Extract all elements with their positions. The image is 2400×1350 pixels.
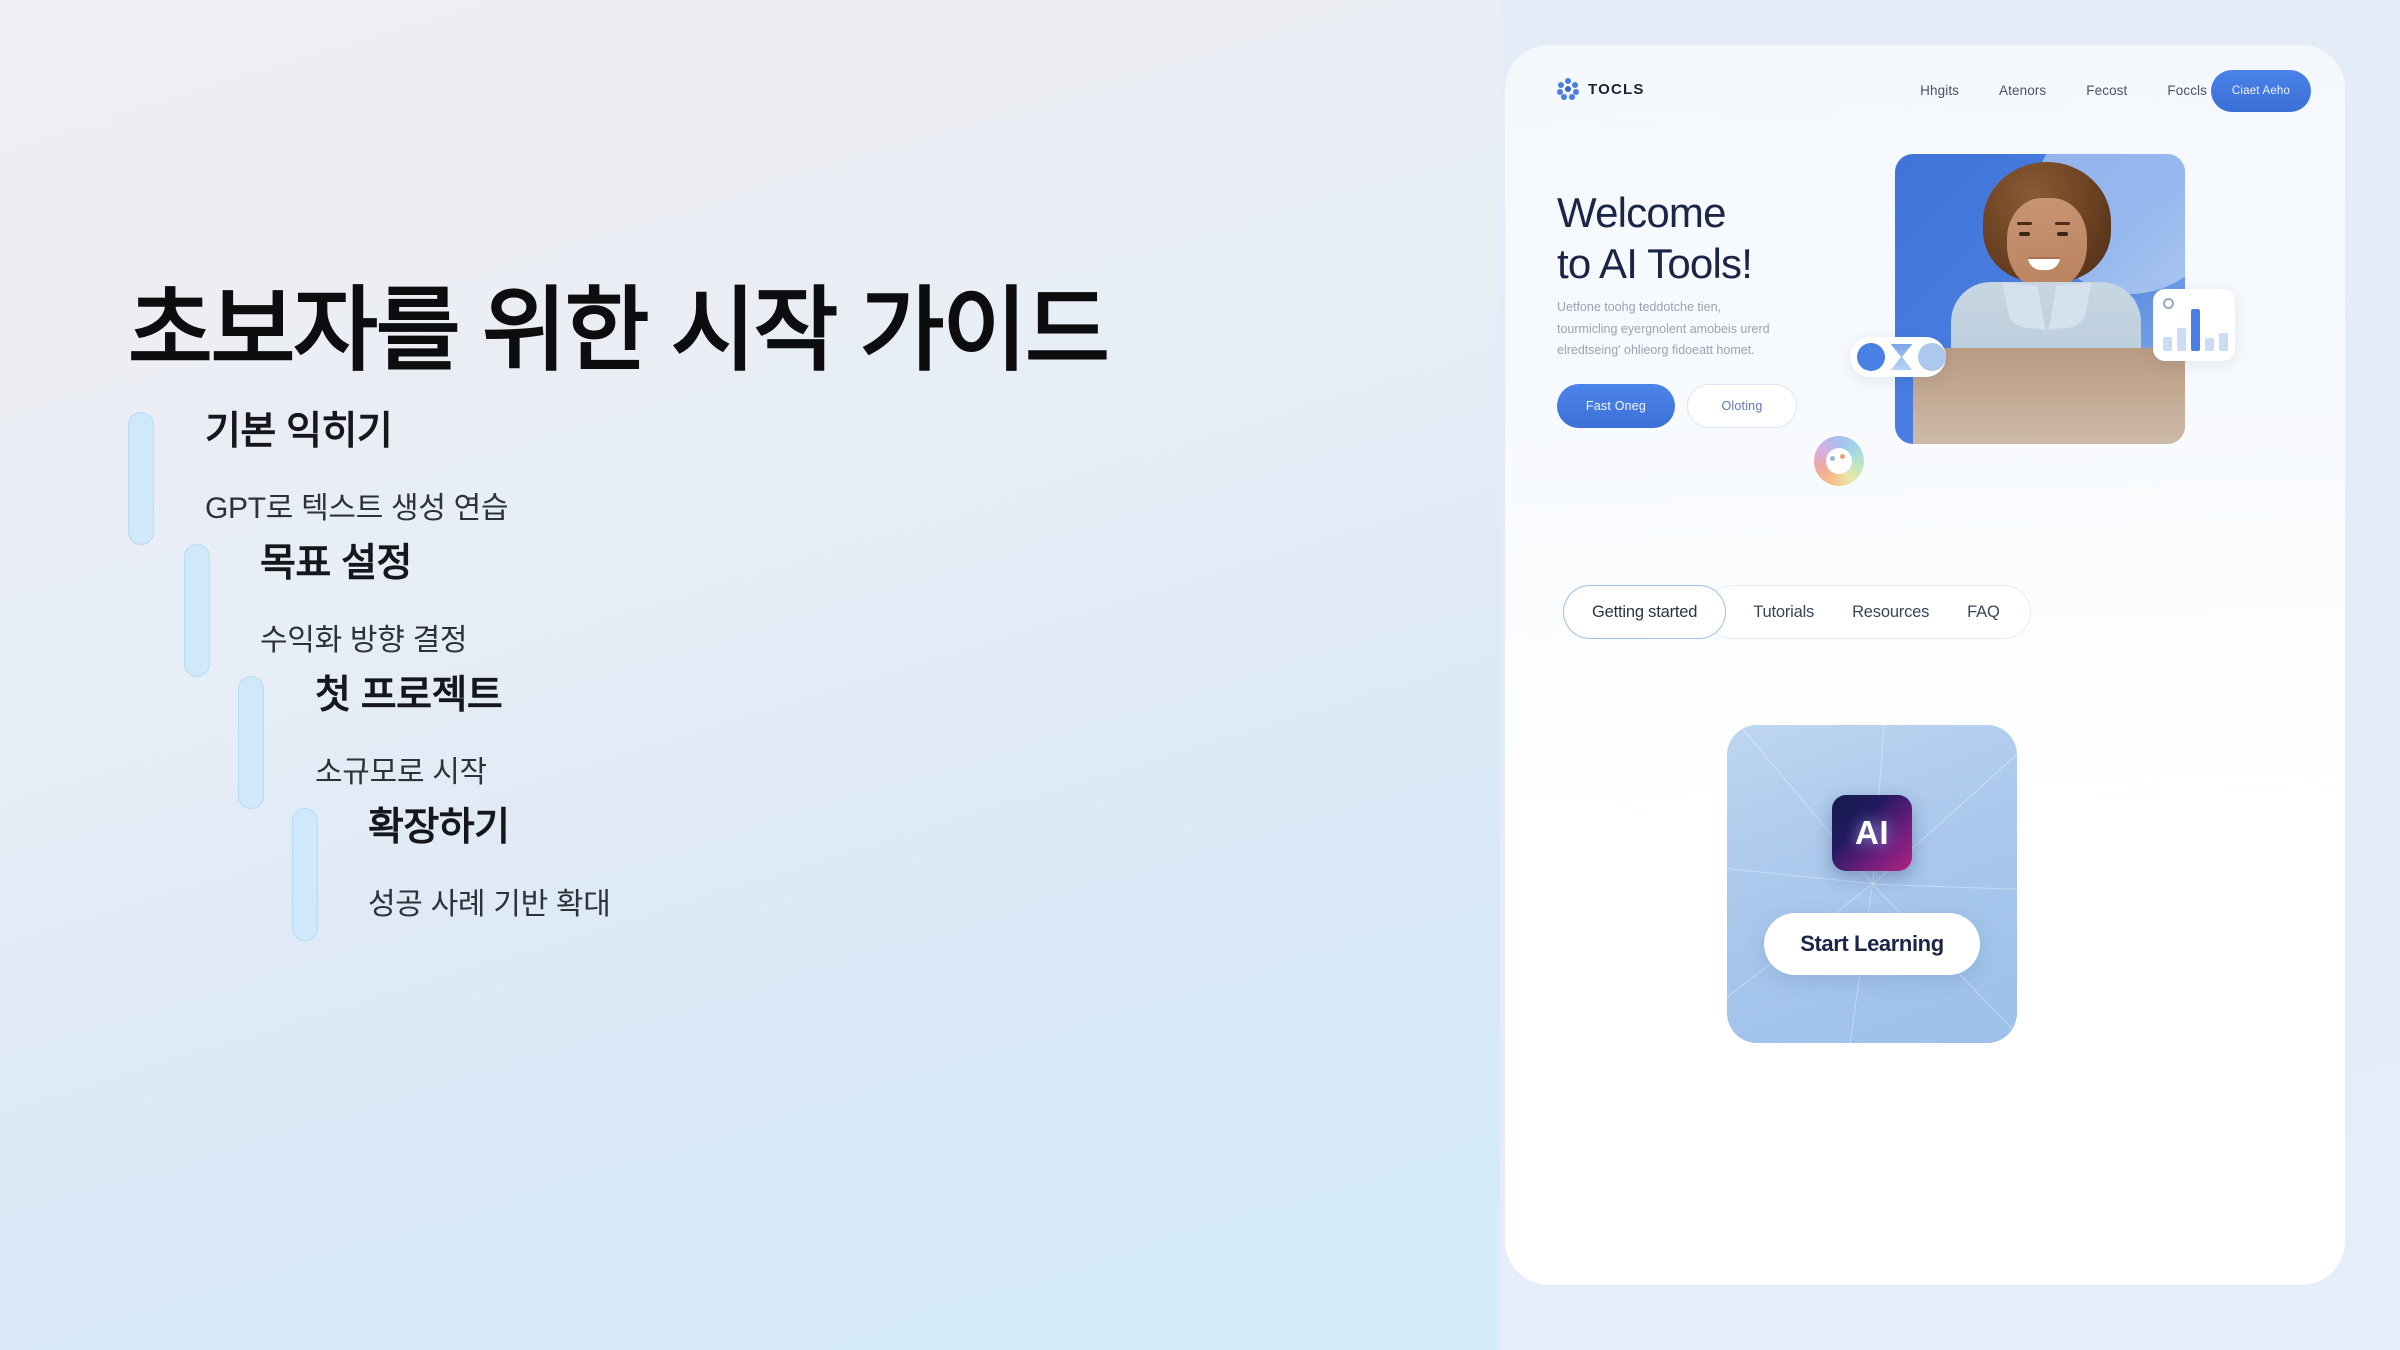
floating-toggle-badge xyxy=(1850,337,1946,377)
hero-photo xyxy=(1895,154,2185,444)
ray-decoration xyxy=(1727,725,2017,1043)
floating-chart-card xyxy=(2153,289,2235,361)
step-description: 성공 사례 기반 확대 xyxy=(368,879,611,923)
nav-cta-button[interactable]: Ciaet Aeho xyxy=(2211,70,2311,112)
nav-link[interactable]: Fecost xyxy=(2086,83,2127,98)
hero-heading-line2: to AI Tools! xyxy=(1557,238,1752,289)
person-eye xyxy=(2019,232,2030,236)
tab-getting-started[interactable]: Getting started xyxy=(1563,585,1726,639)
site-navbar: TOCLS Hhgits Atenors Fecost Foccls Ciaet… xyxy=(1505,45,2345,141)
step-item: 기본 익히기 GPT로 텍스트 생성 연습 xyxy=(0,400,1500,532)
person-eye xyxy=(2057,232,2068,236)
step-item: 목표 설정 수익화 방향 결정 xyxy=(0,532,1500,664)
step-accent-bar xyxy=(184,544,210,677)
nav-link[interactable]: Atenors xyxy=(1999,83,2046,98)
hero-heading-line1: Welcome xyxy=(1557,187,1752,238)
step-item: 확장하기 성공 사례 기반 확대 xyxy=(0,796,1500,928)
outline-circle-icon xyxy=(1918,343,1946,371)
bar-chart-icon xyxy=(2163,309,2228,351)
hourglass-icon xyxy=(1891,344,1913,370)
step-title: 목표 설정 xyxy=(260,532,412,588)
step-title: 첫 프로젝트 xyxy=(315,664,502,720)
step-accent-bar xyxy=(128,412,154,545)
step-accent-bar xyxy=(238,676,264,809)
circle-outline-icon xyxy=(2163,298,2174,309)
nav-link[interactable]: Hhgits xyxy=(1920,83,1959,98)
person-eyebrow xyxy=(2055,222,2070,225)
tab-group: Tutorials Resources FAQ xyxy=(1706,585,2030,639)
hero-primary-button[interactable]: Fast Oneg xyxy=(1557,384,1675,428)
right-preview-pane: TOCLS Hhgits Atenors Fecost Foccls Ciaet… xyxy=(1500,0,2400,1350)
step-title: 확장하기 xyxy=(368,796,510,852)
nav-links: Hhgits Atenors Fecost Foccls xyxy=(1920,83,2207,98)
step-description: 소규모로 시작 xyxy=(315,747,487,791)
hero-heading: Welcome to AI Tools! xyxy=(1557,187,1752,289)
nav-link[interactable]: Foccls xyxy=(2167,83,2207,98)
website-mockup-card: TOCLS Hhgits Atenors Fecost Foccls Ciaet… xyxy=(1505,45,2345,1285)
brand-name: TOCLS xyxy=(1588,81,1645,98)
hero-body-text: Uetfone toohg teddotche tien, tourmiclin… xyxy=(1557,297,1772,362)
start-learning-button[interactable]: Start Learning xyxy=(1764,913,1980,975)
person-face xyxy=(2007,198,2087,290)
hero-secondary-button[interactable]: Oloting xyxy=(1687,384,1797,428)
ai-badge-label: AI xyxy=(1855,814,1889,852)
tab-resources[interactable]: Resources xyxy=(1852,603,1929,622)
tab-tutorials[interactable]: Tutorials xyxy=(1753,603,1814,622)
hero-button-group: Fast Oneg Oloting xyxy=(1557,384,1797,428)
tab-faq[interactable]: FAQ xyxy=(1967,603,1999,622)
ai-learning-card: AI Start Learning xyxy=(1727,725,2017,1043)
step-title: 기본 익히기 xyxy=(205,400,392,456)
step-accent-bar xyxy=(292,808,318,941)
step-item: 첫 프로젝트 소규모로 시작 xyxy=(0,664,1500,796)
dot-cluster-icon xyxy=(1557,78,1579,100)
ai-badge-icon: AI xyxy=(1832,795,1912,871)
person-eyebrow xyxy=(2017,222,2032,225)
tab-row: Getting started Tutorials Resources FAQ xyxy=(1563,585,2031,639)
step-description: 수익화 방향 결정 xyxy=(260,615,467,659)
left-content-pane: 초보자를 위한 시작 가이드 기본 익히기 GPT로 텍스트 생성 연습 목표 … xyxy=(0,0,1500,1350)
laptop-screen-back xyxy=(1913,348,2185,444)
steps-list: 기본 익히기 GPT로 텍스트 생성 연습 목표 설정 수익화 방향 결정 첫 … xyxy=(0,400,1500,928)
filled-circle-icon xyxy=(1857,343,1885,371)
step-description: GPT로 텍스트 생성 연습 xyxy=(205,483,508,527)
hero-section: Welcome to AI Tools! Uetfone toohg teddo… xyxy=(1505,141,2345,561)
brand-logo[interactable]: TOCLS xyxy=(1557,78,1645,100)
slide-root: 초보자를 위한 시작 가이드 기본 익히기 GPT로 텍스트 생성 연습 목표 … xyxy=(0,0,2400,1350)
avatar-inner xyxy=(1826,448,1852,474)
page-title: 초보자를 위한 시작 가이드 xyxy=(128,277,1108,386)
floating-gradient-avatar xyxy=(1814,436,1864,486)
